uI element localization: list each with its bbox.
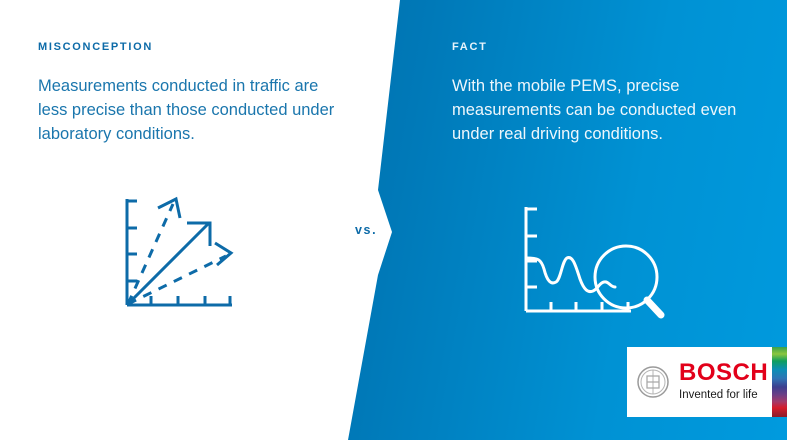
fact-statement-text: With the mobile PEMS, precise measuremen… — [452, 74, 742, 146]
diverging-arrows-chart-icon — [118, 193, 236, 315]
bosch-wordmark: BOSCH — [679, 361, 768, 385]
dashed-shallow-arrow-head — [215, 243, 231, 265]
dashed-steep-arrow-head — [158, 199, 180, 218]
measurement-wave-line — [526, 258, 615, 292]
misconception-eyebrow-label: MISCONCEPTION — [38, 40, 338, 54]
magnifier-handle — [647, 300, 661, 315]
solid-trend-arrow — [128, 223, 209, 304]
misconception-column: MISCONCEPTION Measurements conducted in … — [38, 40, 338, 146]
fact-eyebrow-label: FACT — [452, 40, 742, 54]
bosch-tagline: Invented for life — [679, 387, 768, 403]
misconception-statement-text: Measurements conducted in traffic are le… — [38, 74, 338, 146]
fact-column: FACT With the mobile PEMS, precise measu… — [452, 40, 742, 146]
versus-label: vs. — [355, 223, 377, 237]
bosch-armature-icon — [637, 366, 669, 398]
supergraphic-color-stripe — [772, 347, 787, 417]
infographic-canvas: MISCONCEPTION Measurements conducted in … — [0, 0, 787, 440]
wave-chart-magnifier-icon — [518, 203, 668, 321]
bosch-logo-block: BOSCH Invented for life — [627, 347, 772, 417]
bosch-logo-text: BOSCH Invented for life — [679, 361, 768, 403]
